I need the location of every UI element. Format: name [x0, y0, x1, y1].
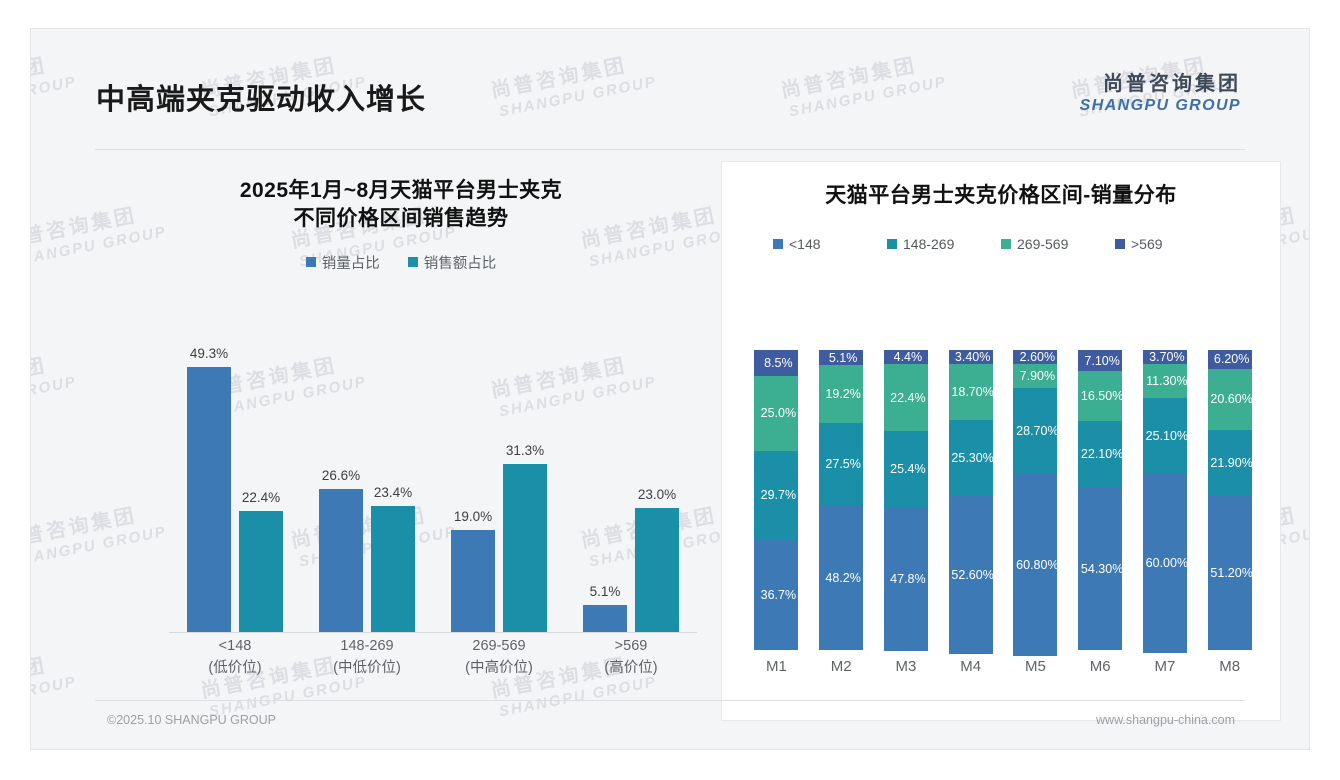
- segment-value-label: 25.30%: [951, 451, 993, 465]
- segment-value-label: 25.4%: [890, 462, 925, 476]
- stacked-bar-segment[interactable]: 6.20%: [1208, 350, 1252, 369]
- stacked-bar-segment[interactable]: 20.60%: [1208, 369, 1252, 431]
- x-axis-tick-label: M1: [744, 658, 809, 686]
- segment-value-label: 54.30%: [1081, 562, 1123, 576]
- legend-item-label: 销售额占比: [424, 252, 497, 273]
- legend-swatch-icon: [773, 239, 783, 249]
- legend-swatch-icon: [408, 257, 418, 267]
- bar-column[interactable]: 31.3%: [503, 336, 547, 632]
- bar-column[interactable]: 5.1%: [583, 336, 627, 632]
- segment-value-label: 27.5%: [825, 457, 860, 471]
- logo-english-text: SHANGPU GROUP: [1080, 96, 1241, 115]
- stacked-bar-segment[interactable]: 29.7%: [754, 451, 798, 540]
- x-axis-tick-label: M4: [938, 658, 1003, 686]
- segment-value-label: 16.50%: [1081, 389, 1123, 403]
- stacked-bar: 3.70%11.30%25.10%60.00%: [1143, 350, 1187, 650]
- x-axis-tick-sublabel: (中低价位): [301, 657, 433, 679]
- stacked-bar-column[interactable]: 5.1%19.2%27.5%48.2%: [809, 350, 874, 650]
- segment-value-label: 2.60%: [1020, 350, 1055, 364]
- bar-column[interactable]: 49.3%: [187, 336, 231, 632]
- segment-value-label: 60.80%: [1016, 558, 1058, 572]
- stacked-bar-segment[interactable]: 16.50%: [1078, 371, 1122, 421]
- stacked-bar: 2.60%7.90%28.70%60.80%: [1013, 350, 1057, 650]
- stacked-bar-segment[interactable]: 2.60%: [1013, 350, 1057, 364]
- stacked-bar-segment[interactable]: 3.40%: [949, 350, 993, 364]
- x-axis-tick-label: M7: [1133, 658, 1198, 686]
- segment-value-label: 8.5%: [764, 356, 793, 370]
- bar-rect[interactable]: [187, 367, 231, 632]
- header-divider: [95, 149, 1245, 150]
- stacked-bar: 4.4%22.4%25.4%47.8%: [884, 350, 928, 650]
- bar-value-label: 19.0%: [454, 509, 492, 524]
- brand-logo: 尚普咨询集团 SHANGPU GROUP: [1080, 73, 1241, 115]
- segment-value-label: 3.40%: [955, 350, 990, 364]
- legend-item-label: 269-569: [1017, 236, 1068, 252]
- legend-swatch-icon: [1001, 239, 1011, 249]
- stacked-bar-segment[interactable]: 22.10%: [1078, 421, 1122, 487]
- stacked-bar-column[interactable]: 2.60%7.90%28.70%60.80%: [1003, 350, 1068, 650]
- x-axis-tick-label: <148(低价位): [169, 635, 301, 693]
- bar-rect[interactable]: [503, 464, 547, 632]
- bar-rect[interactable]: [371, 506, 415, 632]
- legend-item[interactable]: <148: [773, 236, 887, 252]
- bar-value-label: 26.6%: [322, 468, 360, 483]
- segment-value-label: 25.10%: [1146, 429, 1188, 443]
- x-axis-tick-label: 148-269(中低价位): [301, 635, 433, 693]
- stacked-bar-segment[interactable]: 54.30%: [1078, 487, 1122, 650]
- segment-value-label: 21.90%: [1210, 456, 1252, 470]
- segment-value-label: 7.10%: [1084, 354, 1119, 368]
- segment-value-label: 48.2%: [825, 571, 860, 585]
- footer-divider: [95, 700, 1245, 701]
- x-axis-tick-sublabel: (中高价位): [433, 657, 565, 679]
- legend-item[interactable]: >569: [1115, 236, 1229, 252]
- segment-value-label: 19.2%: [825, 387, 860, 401]
- stacked-chart-bars: 8.5%25.0%29.7%36.7%5.1%19.2%27.5%48.2%4.…: [744, 350, 1262, 650]
- grouped-chart-bars: 49.3%22.4%26.6%23.4%19.0%31.3%5.1%23.0%: [169, 336, 697, 633]
- bar-group: 49.3%22.4%: [169, 336, 301, 632]
- stacked-bar-segment[interactable]: 19.2%: [819, 365, 863, 423]
- stacked-bar-segment[interactable]: 22.4%: [884, 364, 928, 431]
- stacked-chart-legend: <148148-269269-569>569: [722, 236, 1280, 252]
- grouped-chart-title-line1: 2025年1月~8月天猫平台男士夹克: [91, 177, 711, 205]
- stacked-bar-segment[interactable]: 48.2%: [819, 505, 863, 650]
- bar-value-label: 5.1%: [590, 584, 621, 599]
- x-axis-tick-label: M5: [1003, 658, 1068, 686]
- bar-rect[interactable]: [635, 508, 679, 632]
- watermark-text: 尚普咨询集团SHANGPU GROUP: [31, 644, 78, 721]
- bar-group: 5.1%23.0%: [565, 336, 697, 632]
- legend-swatch-icon: [887, 239, 897, 249]
- stacked-chart-title: 天猫平台男士夹克价格区间-销量分布: [722, 162, 1280, 210]
- stacked-bar-segment[interactable]: 60.00%: [1143, 473, 1187, 653]
- segment-value-label: 5.1%: [829, 351, 858, 365]
- segment-value-label: 20.60%: [1210, 392, 1252, 406]
- stacked-bar-column[interactable]: 6.20%20.60%21.90%51.20%: [1197, 350, 1262, 650]
- legend-swatch-icon: [1115, 239, 1125, 249]
- stacked-chart-plot-area: 8.5%25.0%29.7%36.7%5.1%19.2%27.5%48.2%4.…: [744, 350, 1262, 650]
- x-axis-tick-range: 269-569: [433, 635, 565, 657]
- segment-value-label: 6.20%: [1214, 352, 1249, 366]
- grouped-chart-legend: 销量占比销售额占比: [91, 252, 711, 273]
- stacked-bar: 5.1%19.2%27.5%48.2%: [819, 350, 863, 650]
- logo-chinese-text: 尚普咨询集团: [1080, 73, 1241, 96]
- segment-value-label: 18.70%: [951, 385, 993, 399]
- stacked-bar-segment[interactable]: 7.10%: [1078, 350, 1122, 371]
- footer-website: www.shangpu-china.com: [1096, 713, 1235, 727]
- x-axis-tick-label: M6: [1068, 658, 1133, 686]
- segment-value-label: 60.00%: [1146, 556, 1188, 570]
- bar-column[interactable]: 26.6%: [319, 336, 363, 632]
- segment-value-label: 51.20%: [1210, 566, 1252, 580]
- watermark-text: 尚普咨询集团SHANGPU GROUP: [31, 344, 78, 421]
- x-axis-tick-label: M8: [1197, 658, 1262, 686]
- bar-column[interactable]: 23.4%: [371, 336, 415, 632]
- footer-copyright: ©2025.10 SHANGPU GROUP: [107, 713, 276, 727]
- x-axis-tick-range: >569: [565, 635, 697, 657]
- stacked-bar-segment[interactable]: 5.1%: [819, 350, 863, 365]
- stacked-bar-segment[interactable]: 21.90%: [1208, 430, 1252, 496]
- segment-value-label: 28.70%: [1016, 424, 1058, 438]
- bar-group: 26.6%23.4%: [301, 336, 433, 632]
- legend-item-label: 148-269: [903, 236, 954, 252]
- legend-item-label: 销量占比: [322, 252, 380, 273]
- x-axis-tick-label: >569(高价位): [565, 635, 697, 693]
- stacked-bar: 8.5%25.0%29.7%36.7%: [754, 350, 798, 650]
- legend-item[interactable]: 销量占比: [306, 252, 380, 273]
- x-axis-tick-range: <148: [169, 635, 301, 657]
- stacked-bar-segment[interactable]: 25.0%: [754, 376, 798, 451]
- legend-item-label: >569: [1131, 236, 1163, 252]
- bar-value-label: 49.3%: [190, 346, 228, 361]
- stacked-bar-segment[interactable]: 25.30%: [949, 420, 993, 496]
- slide-canvas: 尚普咨询集团SHANGPU GROUP尚普咨询集团SHANGPU GROUP尚普…: [30, 28, 1310, 750]
- x-axis-tick-sublabel: (低价位): [169, 657, 301, 679]
- bar-rect[interactable]: [583, 605, 627, 632]
- segment-value-label: 47.8%: [890, 572, 925, 586]
- legend-item-label: <148: [789, 236, 821, 252]
- grouped-chart-title: 2025年1月~8月天猫平台男士夹克 不同价格区间销售趋势: [91, 161, 711, 234]
- legend-item[interactable]: 269-569: [1001, 236, 1115, 252]
- bar-column[interactable]: 22.4%: [239, 336, 283, 632]
- stacked-bar-segment[interactable]: 27.5%: [819, 423, 863, 506]
- x-axis-tick-sublabel: (高价位): [565, 657, 697, 679]
- grouped-chart-title-line2: 不同价格区间销售趋势: [91, 205, 711, 233]
- legend-item[interactable]: 销售额占比: [408, 252, 497, 273]
- stacked-bar-segment[interactable]: 7.90%: [1013, 364, 1057, 388]
- segment-value-label: 29.7%: [761, 488, 796, 502]
- stacked-bar: 3.40%18.70%25.30%52.60%: [949, 350, 993, 650]
- x-axis-tick-range: 148-269: [301, 635, 433, 657]
- stacked-bar-segment[interactable]: 52.60%: [949, 496, 993, 654]
- stacked-bar-column[interactable]: 8.5%25.0%29.7%36.7%: [744, 350, 809, 650]
- stacked-bar-column[interactable]: 3.40%18.70%25.30%52.60%: [938, 350, 1003, 650]
- segment-value-label: 22.4%: [890, 391, 925, 405]
- stacked-bar-segment[interactable]: 3.70%: [1143, 350, 1187, 364]
- slide-header: 中高端夹克驱动收入增长 尚普咨询集团 SHANGPU GROUP: [31, 29, 1309, 121]
- stacked-bar-segment[interactable]: 51.20%: [1208, 496, 1252, 650]
- stacked-bar-segment[interactable]: 60.80%: [1013, 474, 1057, 656]
- bar-value-label: 23.4%: [374, 485, 412, 500]
- segment-value-label: 52.60%: [951, 568, 993, 582]
- bar-value-label: 22.4%: [242, 490, 280, 505]
- x-axis-tick-label: M3: [874, 658, 939, 686]
- stacked-bar-segment[interactable]: 25.4%: [884, 431, 928, 507]
- x-axis-tick-label: M2: [809, 658, 874, 686]
- segment-value-label: 22.10%: [1081, 447, 1123, 461]
- stacked-bar-column[interactable]: 3.70%11.30%25.10%60.00%: [1133, 350, 1198, 650]
- stacked-bar-segment[interactable]: 36.7%: [754, 540, 798, 650]
- stacked-bar: 6.20%20.60%21.90%51.20%: [1208, 350, 1252, 650]
- bar-rect[interactable]: [319, 489, 363, 632]
- stacked-bar-segment[interactable]: 8.5%: [754, 350, 798, 376]
- stacked-bar-segment[interactable]: 18.70%: [949, 364, 993, 420]
- grouped-chart-plot-area: 49.3%22.4%26.6%23.4%19.0%31.3%5.1%23.0%: [169, 336, 697, 633]
- legend-swatch-icon: [306, 257, 316, 267]
- stacked-bar-segment[interactable]: 47.8%: [884, 507, 928, 650]
- grouped-bar-chart-panel: 2025年1月~8月天猫平台男士夹克 不同价格区间销售趋势 销量占比销售额占比 …: [91, 161, 711, 721]
- segment-value-label: 25.0%: [761, 406, 796, 420]
- stacked-bar: 7.10%16.50%22.10%54.30%: [1078, 350, 1122, 650]
- stacked-bar-segment[interactable]: 11.30%: [1143, 364, 1187, 398]
- stacked-bar-segment[interactable]: 4.4%: [884, 350, 928, 364]
- stacked-bar-segment[interactable]: 28.70%: [1013, 388, 1057, 474]
- bar-column[interactable]: 23.0%: [635, 336, 679, 632]
- stacked-bar-segment[interactable]: 25.10%: [1143, 398, 1187, 473]
- legend-item[interactable]: 148-269: [887, 236, 1001, 252]
- stacked-chart-x-axis: M1M2M3M4M5M6M7M8: [744, 658, 1262, 686]
- segment-value-label: 11.30%: [1146, 374, 1187, 388]
- page-title: 中高端夹克驱动收入增长: [96, 76, 426, 118]
- bar-column[interactable]: 19.0%: [451, 336, 495, 632]
- bar-group: 19.0%31.3%: [433, 336, 565, 632]
- stacked-bar-column[interactable]: 4.4%22.4%25.4%47.8%: [874, 350, 939, 650]
- stacked-bar-column[interactable]: 7.10%16.50%22.10%54.30%: [1068, 350, 1133, 650]
- bar-rect[interactable]: [451, 530, 495, 632]
- segment-value-label: 7.90%: [1020, 369, 1055, 383]
- bar-rect[interactable]: [239, 511, 283, 632]
- segment-value-label: 4.4%: [894, 350, 923, 364]
- bar-value-label: 23.0%: [638, 487, 676, 502]
- stacked-bar-chart-panel: 天猫平台男士夹克价格区间-销量分布 <148148-269269-569>569…: [721, 161, 1281, 721]
- grouped-chart-x-axis: <148(低价位)148-269(中低价位)269-569(中高价位)>569(…: [169, 635, 697, 693]
- segment-value-label: 36.7%: [761, 588, 796, 602]
- x-axis-tick-label: 269-569(中高价位): [433, 635, 565, 693]
- segment-value-label: 3.70%: [1149, 350, 1184, 364]
- bar-value-label: 31.3%: [506, 443, 544, 458]
